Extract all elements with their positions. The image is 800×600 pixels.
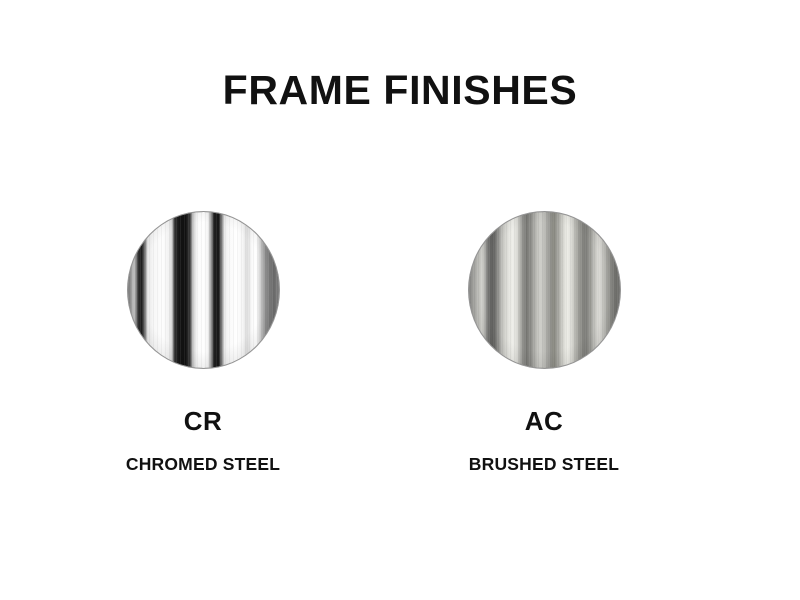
finish-code-ac: AC (414, 408, 674, 434)
finish-item-cr[interactable]: CR CHROMED STEEL (73, 212, 333, 502)
page-title: FRAME FINISHES (0, 68, 800, 113)
frame-finishes-board: FRAME FINISHES CR CHROMED STEEL AC BRUSH… (0, 0, 800, 600)
finish-name-ac: BRUSHED STEEL (414, 456, 674, 474)
finish-swatch-row: CR CHROMED STEEL AC BRUSHED STEEL (0, 212, 800, 502)
finish-code-cr: CR (73, 408, 333, 434)
finish-item-ac[interactable]: AC BRUSHED STEEL (414, 212, 674, 502)
chromed-steel-swatch-icon (128, 212, 279, 368)
brushed-texture (469, 212, 620, 368)
chrome-texture (128, 212, 279, 368)
finish-name-cr: CHROMED STEEL (73, 456, 333, 474)
brushed-steel-swatch-icon (469, 212, 620, 368)
